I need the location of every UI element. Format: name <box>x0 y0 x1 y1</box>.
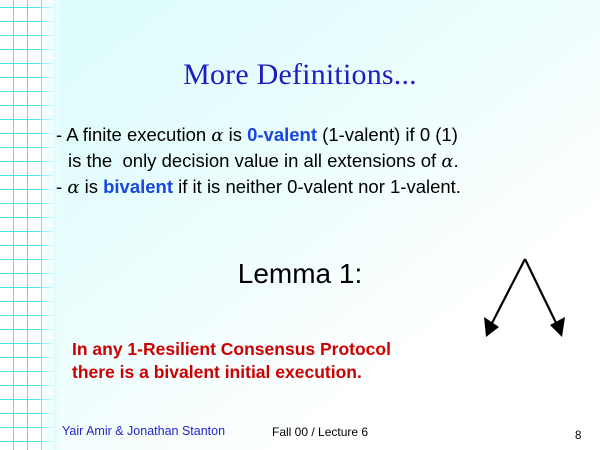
arrow-right-shaft <box>525 259 558 327</box>
keyword-zero-valent: 0-valent <box>247 124 317 145</box>
definition-block: - A finite execution α is 0-valent (1-va… <box>56 122 576 200</box>
arrow-left-shaft <box>490 259 525 327</box>
conclusion-line-2: there is a bivalent initial execution. <box>72 361 542 384</box>
definition-line-1: - A finite execution α is 0-valent (1-va… <box>56 122 576 148</box>
definition-line-2-pre: is the only decision value in all extens… <box>68 150 441 171</box>
alpha-symbol: α <box>67 177 79 198</box>
arrow-right-head <box>550 317 565 337</box>
alpha-symbol: α <box>211 125 223 146</box>
definition-line-3-post: if it is neither 0-valent nor 1-valent. <box>173 176 461 197</box>
definition-line-3-mid: is <box>79 176 103 197</box>
slide-title: More Definitions... <box>0 58 600 92</box>
definition-line-2: is the only decision value in all extens… <box>56 148 576 174</box>
page-number: 8 <box>575 430 581 442</box>
branching-arrows-diagram <box>470 255 580 350</box>
definition-line-2-post: . <box>453 150 458 171</box>
definition-line-3-pre: - <box>56 176 67 197</box>
keyword-bivalent: bivalent <box>103 176 173 197</box>
definition-line-1-pre: - A finite execution <box>56 124 211 145</box>
alpha-symbol: α <box>441 151 453 172</box>
slide-canvas: More Definitions... - A finite execution… <box>0 0 600 450</box>
conclusion-text: In any 1-Resilient Consensus Protocol th… <box>72 338 542 384</box>
definition-line-1-post: (1-valent) if 0 (1) <box>317 124 458 145</box>
definition-line-3: - α is bivalent if it is neither 0-valen… <box>56 174 576 200</box>
footer-authors: Yair Amir & Jonathan Stanton <box>62 424 225 438</box>
footer-course-info: Fall 00 / Lecture 6 <box>272 425 368 439</box>
arrow-left-head <box>484 317 499 337</box>
definition-line-1-mid: is <box>223 124 247 145</box>
conclusion-line-1: In any 1-Resilient Consensus Protocol <box>72 338 542 361</box>
